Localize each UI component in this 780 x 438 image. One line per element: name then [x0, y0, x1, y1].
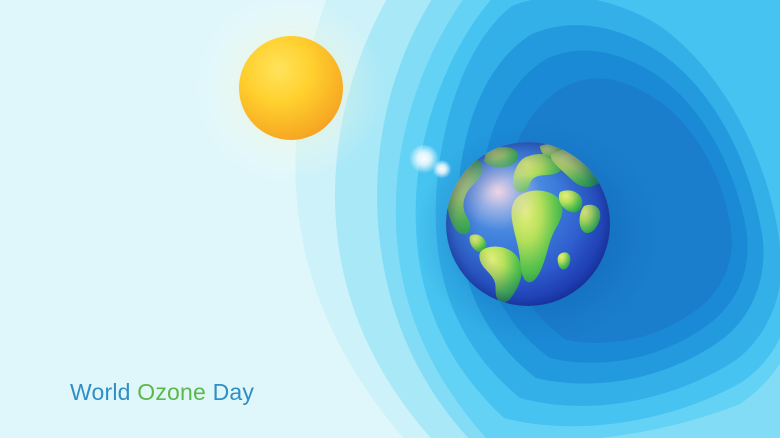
globe-shading — [446, 142, 610, 306]
headline: World Ozone Day — [70, 379, 254, 406]
sun — [239, 36, 343, 140]
headline-space-2 — [206, 379, 213, 405]
world-ozone-day-poster: World Ozone Day — [0, 0, 780, 438]
headline-word-ozone: Ozone — [137, 379, 206, 405]
cloud-small — [433, 161, 452, 180]
poster-artwork — [0, 0, 780, 438]
globe-landmasses — [446, 142, 610, 306]
headline-word-world: World — [70, 379, 131, 405]
headline-word-day: Day — [213, 379, 255, 405]
earth-globe — [446, 142, 610, 306]
